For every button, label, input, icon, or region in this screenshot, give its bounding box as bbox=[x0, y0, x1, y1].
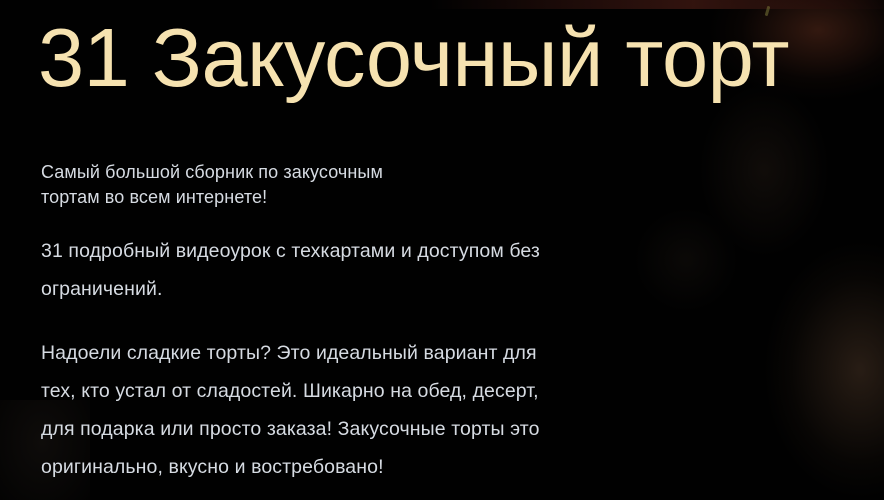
third-paragraph-line-2: тех, кто устал от сладостей. Шикарно на … bbox=[41, 372, 741, 410]
lead-paragraph: Самый большой сборник по закусочным торт… bbox=[41, 160, 741, 210]
page-title: 31 Закусочный торт bbox=[38, 8, 858, 108]
third-paragraph-line-3: для подарка или просто заказа! Закусочны… bbox=[41, 410, 741, 448]
third-paragraph: Надоели сладкие торты? Это идеальный вар… bbox=[41, 334, 741, 486]
promo-screen: 31 Закусочный торт Самый большой сборник… bbox=[0, 0, 884, 500]
lead-paragraph-line-2: тортам во всем интернете! bbox=[41, 185, 741, 210]
second-paragraph: 31 подробный видеоурок с техкартами и до… bbox=[41, 232, 741, 308]
third-paragraph-line-4: оригинально, вкусно и востребовано! bbox=[41, 448, 741, 486]
description-block: Самый большой сборник по закусочным торт… bbox=[41, 160, 741, 486]
third-paragraph-line-1: Надоели сладкие торты? Это идеальный вар… bbox=[41, 334, 741, 372]
content-area: 31 Закусочный торт Самый большой сборник… bbox=[0, 0, 884, 500]
lead-paragraph-line-1: Самый большой сборник по закусочным bbox=[41, 160, 741, 185]
second-paragraph-line-1: 31 подробный видеоурок с техкартами и до… bbox=[41, 232, 741, 270]
second-paragraph-line-2: ограничений. bbox=[41, 270, 741, 308]
